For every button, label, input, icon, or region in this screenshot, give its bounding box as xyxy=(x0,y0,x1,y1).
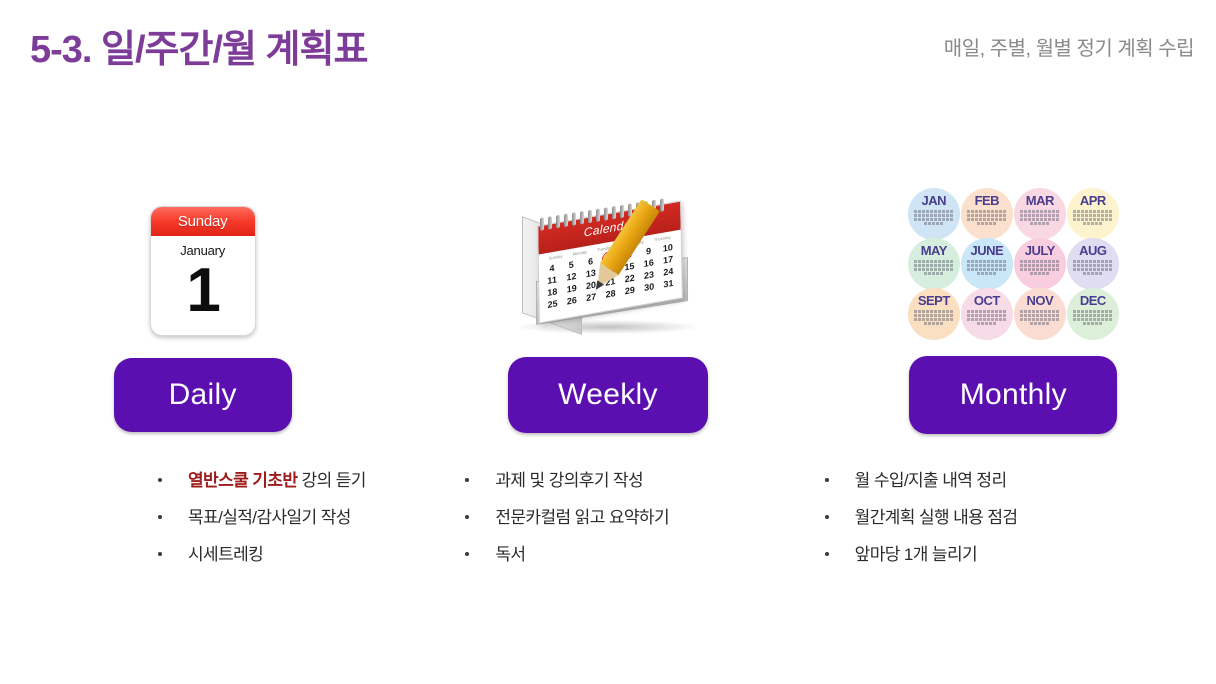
desk-calendar-pencil-icon: Calendar Sunday Monday Tuesday Wednesday… xyxy=(508,195,708,340)
daily-button[interactable]: Daily xyxy=(114,358,292,432)
weekday-label: Monday xyxy=(573,249,587,256)
date-cell: 11 xyxy=(545,274,559,286)
month-label: AUG xyxy=(1079,244,1106,257)
month-label: SEPT xyxy=(918,294,950,307)
month-label: JUNE xyxy=(970,244,1003,257)
month-label: JULY xyxy=(1025,244,1055,257)
month-circle: JUNE xyxy=(961,238,1013,290)
month-circle: MAY xyxy=(908,238,960,290)
list-item: 앞마당 1개 늘리기 xyxy=(825,540,1216,565)
weekday-label: Sunday xyxy=(549,253,563,260)
month-day-dots xyxy=(967,210,1007,225)
month-day-dots xyxy=(914,260,954,275)
month-circle: DEC xyxy=(1067,288,1119,340)
date-cell: 31 xyxy=(661,277,675,289)
list-item: 시세트레킹 xyxy=(158,540,405,565)
month-day-dots xyxy=(967,260,1007,275)
date-cell: 25 xyxy=(545,298,559,310)
list-item-label: 전문카컬럼 읽고 요약하기 xyxy=(495,503,669,528)
month-circle: OCT xyxy=(961,288,1013,340)
monthly-button[interactable]: Monthly xyxy=(909,356,1117,434)
month-day-dots xyxy=(967,310,1007,325)
button-zone-monthly: Monthly xyxy=(811,340,1216,450)
date-cell: 18 xyxy=(545,286,559,298)
month-day-dots xyxy=(1020,310,1060,325)
calendar-day-number: 1 xyxy=(151,260,255,322)
date-cell: 6 xyxy=(583,255,597,267)
date-cell: 23 xyxy=(642,269,656,281)
month-circle: APR xyxy=(1067,188,1119,240)
page-calendar-icon: Sunday January 1 xyxy=(150,206,256,336)
date-cell: 9 xyxy=(641,245,655,257)
list-item: 독서 xyxy=(465,540,810,565)
date-cell: 30 xyxy=(642,281,656,293)
list-item: 열반스쿨 기초반 강의 듣기 xyxy=(158,466,405,491)
button-zone-daily: Daily xyxy=(0,340,405,450)
list-item: 월 수입/지출 내역 정리 xyxy=(825,466,1216,491)
month-label: JAN xyxy=(922,194,947,207)
month-circle: SEPT xyxy=(908,288,960,340)
date-cell: 5 xyxy=(564,259,578,271)
bullet-dot-icon xyxy=(158,478,162,482)
list-item-label: 강의 듣기 xyxy=(297,471,365,490)
month-day-dots xyxy=(1073,260,1113,275)
month-day-dots xyxy=(1073,310,1113,325)
twelve-months-circles-icon: JAN FEB MAR APR MAY xyxy=(908,188,1119,338)
column-monthly: JAN FEB MAR APR MAY xyxy=(811,175,1216,595)
column-weekly: Calendar Sunday Monday Tuesday Wednesday… xyxy=(405,175,810,595)
page-title: 5-3. 일/주간/월 계획표 xyxy=(30,18,367,73)
list-item: 전문카컬럼 읽고 요약하기 xyxy=(465,503,810,528)
month-label: DEC xyxy=(1080,294,1106,307)
slide-header: 5-3. 일/주간/월 계획표 매일, 주별, 월별 정기 계획 수립 xyxy=(0,0,1216,100)
month-label: NOV xyxy=(1026,294,1053,307)
column-daily: Sunday January 1 Daily 열반스쿨 기초반 강의 듣기 목표… xyxy=(0,175,405,595)
month-day-dots xyxy=(1020,210,1060,225)
bullet-list-monthly: 월 수입/지출 내역 정리 월간계획 실행 내용 점검 앞마당 1개 늘리기 xyxy=(825,466,1216,565)
list-item: 월간계획 실행 내용 점검 xyxy=(825,503,1216,528)
month-circle: NOV xyxy=(1014,288,1066,340)
month-circle: JAN xyxy=(908,188,960,240)
month-label: MAY xyxy=(921,244,947,257)
date-cell: 27 xyxy=(584,291,598,303)
list-item-label: 앞마당 1개 늘리기 xyxy=(855,540,977,565)
icon-zone-weekly: Calendar Sunday Monday Tuesday Wednesday… xyxy=(405,175,810,340)
date-cell: 26 xyxy=(565,294,579,306)
weekly-button[interactable]: Weekly xyxy=(508,357,708,433)
page-subtitle: 매일, 주별, 월별 정기 계획 수립 xyxy=(944,32,1194,61)
bullet-dot-icon xyxy=(465,515,469,519)
bullet-dot-icon xyxy=(825,515,829,519)
bullet-dot-icon xyxy=(825,552,829,556)
month-label: OCT xyxy=(974,294,1000,307)
list-item-label: 목표/실적/감사일기 작성 xyxy=(188,503,351,528)
month-label: APR xyxy=(1080,194,1106,207)
month-day-dots xyxy=(914,210,954,225)
date-cell: 12 xyxy=(564,271,578,283)
date-cell: 29 xyxy=(623,284,637,296)
month-circle: AUG xyxy=(1067,238,1119,290)
date-cell: 16 xyxy=(642,257,656,269)
month-label: FEB xyxy=(975,194,1000,207)
button-zone-weekly: Weekly xyxy=(405,340,810,450)
bullet-dot-icon xyxy=(158,515,162,519)
date-cell: 19 xyxy=(565,283,579,295)
month-day-dots xyxy=(1020,260,1060,275)
month-label: MAR xyxy=(1026,194,1054,207)
calendar-weekday-label: Sunday xyxy=(151,207,255,236)
date-cell: 10 xyxy=(661,242,675,254)
list-item: 목표/실적/감사일기 작성 xyxy=(158,503,405,528)
bullet-list-daily: 열반스쿨 기초반 강의 듣기 목표/실적/감사일기 작성 시세트레킹 xyxy=(158,466,405,565)
list-item: 과제 및 강의후기 작성 xyxy=(465,466,810,491)
month-day-dots xyxy=(914,310,954,325)
weekday-label: Thursday xyxy=(654,234,671,242)
date-cell: 4 xyxy=(545,262,559,274)
list-item-label: 과제 및 강의후기 작성 xyxy=(495,466,643,491)
month-circle: FEB xyxy=(961,188,1013,240)
date-cell: 24 xyxy=(661,266,675,278)
content-columns: Sunday January 1 Daily 열반스쿨 기초반 강의 듣기 목표… xyxy=(0,175,1216,595)
month-day-dots xyxy=(1073,210,1113,225)
month-circle: JULY xyxy=(1014,238,1066,290)
list-item-label: 독서 xyxy=(495,540,525,565)
date-cell: 22 xyxy=(623,272,637,284)
list-item-label: 월간계획 실행 내용 점검 xyxy=(855,503,1018,528)
list-item-label: 시세트레킹 xyxy=(188,540,263,565)
icon-zone-monthly: JAN FEB MAR APR MAY xyxy=(811,175,1216,340)
bullet-dot-icon xyxy=(158,552,162,556)
bullet-list-weekly: 과제 및 강의후기 작성 전문카컬럼 읽고 요약하기 독서 xyxy=(465,466,810,565)
date-cell: 17 xyxy=(661,254,675,266)
list-item-highlight: 열반스쿨 기초반 xyxy=(188,471,297,490)
icon-zone-daily: Sunday January 1 xyxy=(0,175,405,340)
bullet-dot-icon xyxy=(825,478,829,482)
month-circle: MAR xyxy=(1014,188,1066,240)
bullet-dot-icon xyxy=(465,478,469,482)
bullet-dot-icon xyxy=(465,552,469,556)
list-item-label: 월 수입/지출 내역 정리 xyxy=(855,466,1007,491)
